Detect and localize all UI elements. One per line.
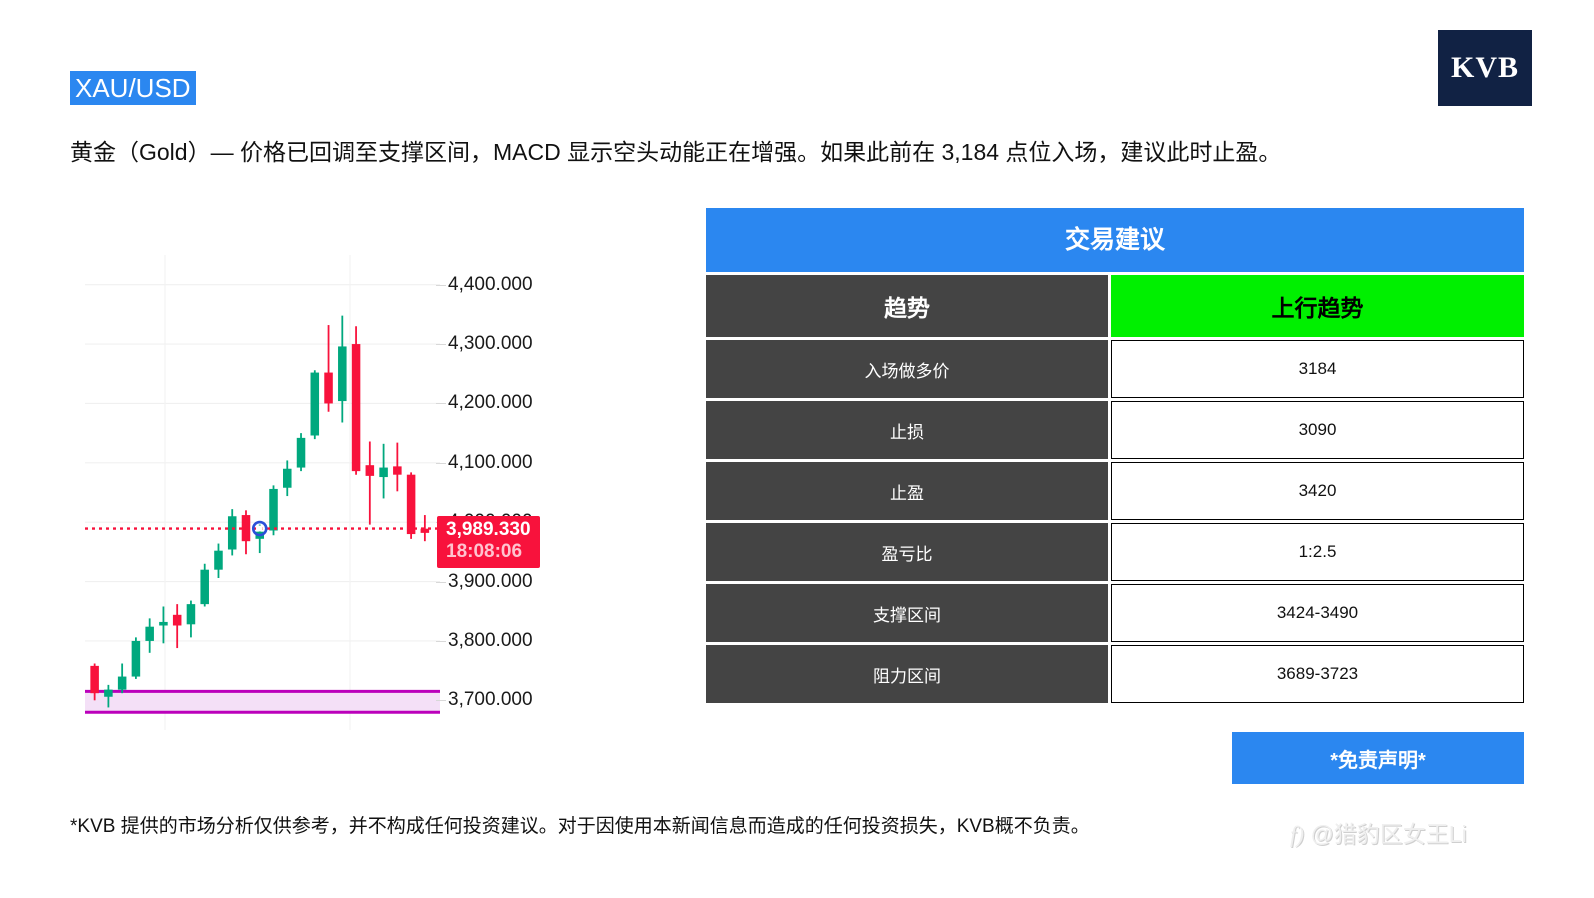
- current-price-time: 18:08:06: [446, 541, 531, 563]
- row-label: 支撑区间: [706, 584, 1108, 642]
- row-label: 止盈: [706, 462, 1108, 520]
- candlestick-chart: [85, 255, 440, 730]
- candlestick: [352, 326, 361, 474]
- table-row: 止损3090: [706, 401, 1524, 459]
- disclaimer-button[interactable]: *免责声明*: [1232, 732, 1524, 784]
- y-axis-tick-label: 3,800.000: [448, 630, 533, 652]
- watermark-f-icon: f): [1290, 822, 1304, 847]
- current-price-tag: 3,989.330 18:08:06: [437, 516, 540, 568]
- row-value: 3184: [1111, 340, 1524, 398]
- candlestick: [324, 325, 333, 412]
- y-axis-tick-mark: [436, 641, 446, 642]
- symbol-title: XAU/USD: [70, 71, 196, 105]
- watermark-text: @猎豹区女王Li: [1310, 821, 1466, 847]
- row-value: 1:2.5: [1111, 523, 1524, 581]
- current-price-value: 3,989.330: [446, 519, 531, 541]
- y-axis-tick-mark: [436, 285, 446, 286]
- table-row: 支撑区间3424-3490: [706, 584, 1524, 642]
- row-value: 3424-3490: [1111, 584, 1524, 642]
- table-row: 止盈3420: [706, 462, 1524, 520]
- y-axis-tick-mark: [436, 403, 446, 404]
- y-axis-tick-label: 4,300.000: [448, 333, 533, 355]
- chart-y-axis: 4,400.0004,300.0004,200.0004,100.0004,00…: [440, 255, 580, 730]
- candlestick: [242, 510, 251, 554]
- candlestick: [187, 601, 196, 638]
- candlestick: [366, 441, 375, 524]
- y-axis-tick-label: 4,100.000: [448, 452, 533, 474]
- row-label: 入场做多价: [706, 340, 1108, 398]
- y-axis-tick-label: 3,900.000: [448, 571, 533, 593]
- candlestick: [118, 664, 127, 694]
- y-axis-tick-label: 3,700.000: [448, 689, 533, 711]
- candlestick: [145, 618, 154, 652]
- trade-advice-table: 交易建议 趋势 上行趋势 入场做多价3184止损3090止盈3420盈亏比1:2…: [706, 208, 1524, 703]
- headline-text: 黄金（Gold）— 价格已回调至支撑区间，MACD 显示空头动能正在增强。如果此…: [70, 136, 1540, 168]
- candlestick: [338, 316, 347, 423]
- row-label: 阻力区间: [706, 645, 1108, 703]
- table-row: 入场做多价3184: [706, 340, 1524, 398]
- row-label: 盈亏比: [706, 523, 1108, 581]
- kvb-logo: KVB: [1438, 30, 1532, 106]
- y-axis-tick-label: 4,400.000: [448, 274, 533, 296]
- row-value: 3689-3723: [1111, 645, 1524, 703]
- table-title: 交易建议: [706, 208, 1524, 272]
- footer-disclaimer: *KVB 提供的市场分析仅供参考，并不构成任何投资建议。对于因使用本新闻信息而造…: [70, 813, 1090, 841]
- candlestick: [159, 607, 168, 644]
- y-axis-tick-mark: [436, 582, 446, 583]
- candlestick: [393, 443, 402, 492]
- trend-label: 趋势: [706, 275, 1108, 337]
- y-axis-tick-mark: [436, 700, 446, 701]
- row-value: 3420: [1111, 462, 1524, 520]
- y-axis-tick-mark: [436, 463, 446, 464]
- candlestick: [311, 370, 320, 439]
- table-row: 盈亏比1:2.5: [706, 523, 1524, 581]
- y-axis-tick-mark: [436, 344, 446, 345]
- table-header-row: 趋势 上行趋势: [706, 275, 1524, 337]
- table-body: 入场做多价3184止损3090止盈3420盈亏比1:2.5支撑区间3424-34…: [706, 340, 1524, 703]
- candlestick: [200, 564, 209, 607]
- row-value: 3090: [1111, 401, 1524, 459]
- kvb-logo-text: KVB: [1451, 51, 1519, 85]
- trend-value: 上行趋势: [1111, 275, 1524, 337]
- chart-svg: [85, 255, 440, 730]
- candlestick: [214, 544, 223, 578]
- candlestick: [132, 637, 141, 679]
- y-axis-tick-label: 4,200.000: [448, 392, 533, 414]
- candlestick: [228, 509, 237, 555]
- watermark: f) @猎豹区女王Li: [1290, 818, 1467, 851]
- candlestick: [283, 460, 292, 496]
- table-row: 阻力区间3689-3723: [706, 645, 1524, 703]
- row-label: 止损: [706, 401, 1108, 459]
- candlestick: [297, 433, 306, 471]
- candlestick: [379, 444, 388, 499]
- support-zone-band: [85, 691, 440, 712]
